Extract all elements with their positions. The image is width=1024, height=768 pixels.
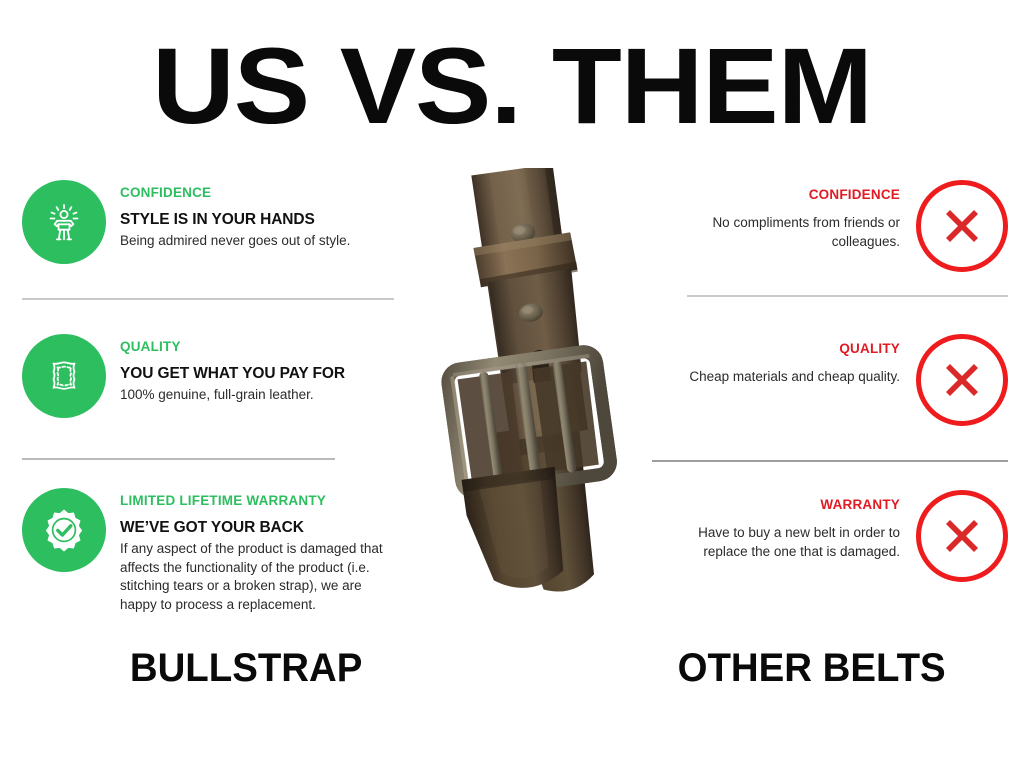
drawback-text-warranty: WARRANTY Have to buy a new belt in order… xyxy=(670,490,900,561)
feature-category: LIMITED LIFETIME WARRANTY xyxy=(120,494,390,508)
feature-body: If any aspect of the product is damaged … xyxy=(120,540,390,614)
divider-right-2 xyxy=(652,460,1008,462)
feature-text-quality: QUALITY YOU GET WHAT YOU PAY FOR 100% ge… xyxy=(120,334,390,405)
drawback-text-quality: QUALITY Cheap materials and cheap qualit… xyxy=(670,334,900,387)
drawback-body: Have to buy a new belt in order to repla… xyxy=(670,524,900,561)
drawback-body: No compliments from friends or colleague… xyxy=(670,214,900,251)
feature-headline: WE’VE GOT YOUR BACK xyxy=(120,519,390,536)
red-x-circle-icon xyxy=(916,334,1008,426)
drawback-row-confidence: CONFIDENCE No compliments from friends o… xyxy=(670,180,1008,272)
drawback-category: CONFIDENCE xyxy=(670,188,900,202)
confidence-person-icon xyxy=(22,180,106,264)
feature-category: CONFIDENCE xyxy=(120,186,390,200)
drawback-category: WARRANTY xyxy=(670,498,900,512)
feature-text-confidence: CONFIDENCE STYLE IS IN YOUR HANDS Being … xyxy=(120,180,390,251)
leather-hide-icon xyxy=(22,334,106,418)
feature-headline: YOU GET WHAT YOU PAY FOR xyxy=(120,365,390,382)
footer-label-other-belts: OTHER BELTS xyxy=(678,648,946,688)
warranty-badge-check-icon xyxy=(22,488,106,572)
feature-body: Being admired never goes out of style. xyxy=(120,232,390,251)
drawback-row-warranty: WARRANTY Have to buy a new belt in order… xyxy=(670,490,1008,582)
drawback-row-quality: QUALITY Cheap materials and cheap qualit… xyxy=(670,334,1008,426)
feature-row-quality: QUALITY YOU GET WHAT YOU PAY FOR 100% ge… xyxy=(22,334,390,418)
feature-body: 100% genuine, full-grain leather. xyxy=(120,386,390,405)
red-x-circle-icon xyxy=(916,490,1008,582)
divider-left-1 xyxy=(22,298,394,300)
feature-text-warranty: LIMITED LIFETIME WARRANTY WE’VE GOT YOUR… xyxy=(120,488,390,614)
drawback-body: Cheap materials and cheap quality. xyxy=(670,368,900,387)
feature-category: QUALITY xyxy=(120,340,390,354)
brown-leather-belt-photo xyxy=(415,168,665,600)
divider-right-1 xyxy=(687,295,1008,297)
drawback-text-confidence: CONFIDENCE No compliments from friends o… xyxy=(670,180,900,251)
footer-label-bullstrap: BULLSTRAP xyxy=(130,648,363,688)
drawback-category: QUALITY xyxy=(670,342,900,356)
feature-row-warranty: LIMITED LIFETIME WARRANTY WE’VE GOT YOUR… xyxy=(22,488,390,614)
red-x-circle-icon xyxy=(916,180,1008,272)
divider-left-2 xyxy=(22,458,335,460)
page-title: US VS. THEM xyxy=(0,34,1024,138)
feature-row-confidence: CONFIDENCE STYLE IS IN YOUR HANDS Being … xyxy=(22,180,390,264)
feature-headline: STYLE IS IN YOUR HANDS xyxy=(120,211,390,228)
